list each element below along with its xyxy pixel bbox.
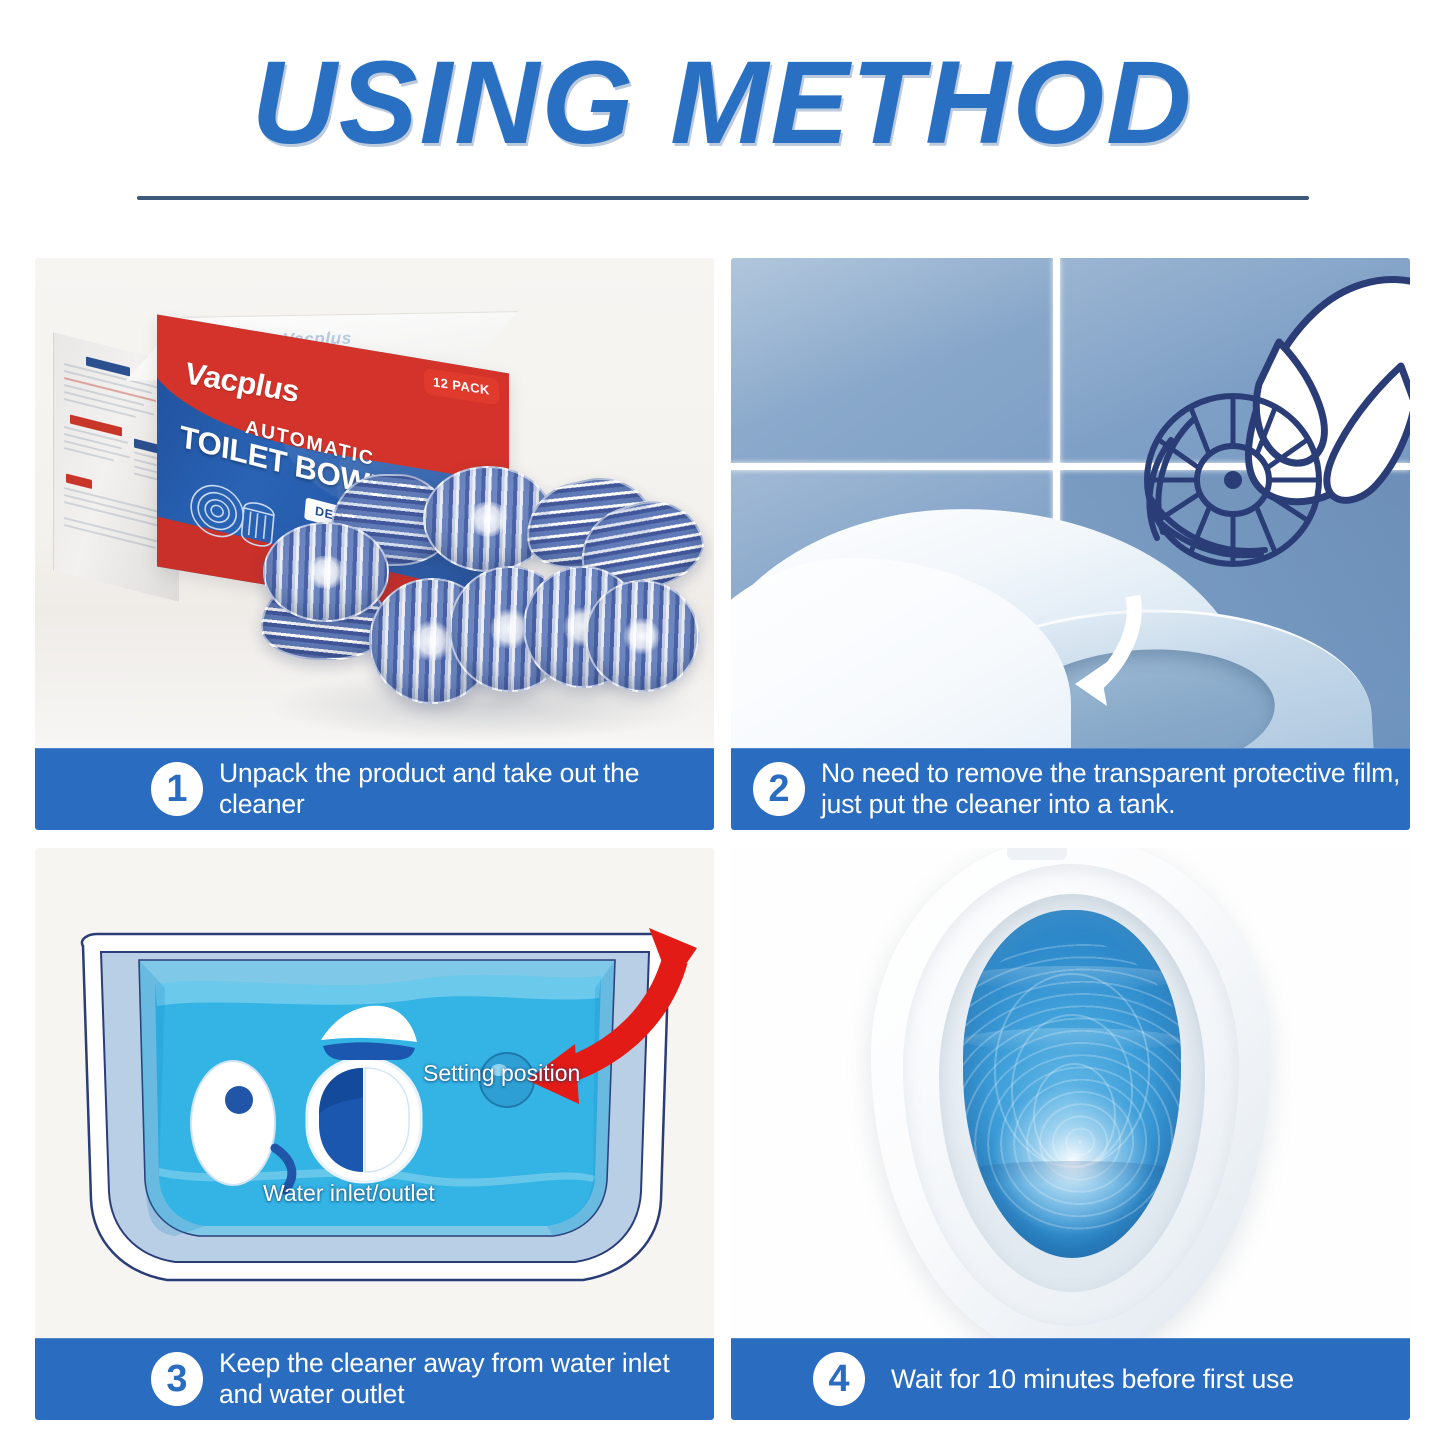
- flush-valve: [307, 1058, 421, 1182]
- step-1-image: Vacplus Vacplus 12 PACK AUTOMATIC TOILET…: [35, 258, 714, 748]
- header: USING METHOD: [0, 0, 1445, 230]
- water-inlet-outlet-label: Water inlet/outlet: [263, 1180, 435, 1207]
- step-4-text: Wait for 10 minutes before first use: [891, 1364, 1302, 1395]
- hand-holding-cleaner-icon: [1129, 268, 1410, 658]
- cleaner-tablet: [263, 522, 389, 622]
- step-card-2: 2 No need to remove the transparent prot…: [731, 258, 1410, 830]
- step-card-4: 4 Wait for 10 minutes before first use: [731, 848, 1410, 1420]
- step-number-badge: 2: [753, 762, 805, 816]
- step-4-caption: 4 Wait for 10 minutes before first use: [731, 1338, 1410, 1420]
- using-method-infographic: USING METHOD: [0, 0, 1445, 1445]
- seat-hinge: [1007, 848, 1067, 860]
- step-2-image: [731, 258, 1410, 748]
- step-3-caption: 3 Keep the cleaner away from water inlet…: [35, 1338, 714, 1420]
- step-card-1: Vacplus Vacplus 12 PACK AUTOMATIC TOILET…: [35, 258, 714, 830]
- step-3-text: Keep the cleaner away from water inlet a…: [219, 1348, 714, 1410]
- title-divider: [137, 196, 1309, 200]
- step-card-3: Setting position Water inlet/outlet 3 Ke…: [35, 848, 714, 1420]
- step-3-image: Setting position Water inlet/outlet: [35, 848, 714, 1338]
- step-number-badge: 4: [813, 1352, 865, 1406]
- step-1-caption: 1 Unpack the product and take out the cl…: [35, 748, 714, 830]
- cleaner-tablets-pile: [273, 470, 713, 748]
- toilet-bowl-top-view: [731, 848, 1410, 1338]
- page-title: USING METHOD: [0, 44, 1445, 162]
- cleaner-tablet: [585, 580, 699, 692]
- step-number-badge: 1: [151, 762, 203, 816]
- setting-position-label: Setting position: [423, 1060, 580, 1087]
- step-2-caption: 2 No need to remove the transparent prot…: [731, 748, 1410, 830]
- step-2-text: No need to remove the transparent protec…: [821, 758, 1410, 820]
- cleaner-tablet-line-art: [1147, 396, 1319, 564]
- toilet-tank-diagram: [35, 848, 714, 1338]
- step-number-badge: 3: [151, 1352, 203, 1406]
- step-1-text: Unpack the product and take out the clea…: [219, 758, 714, 820]
- step-4-image: [731, 848, 1410, 1338]
- steps-grid: Vacplus Vacplus 12 PACK AUTOMATIC TOILET…: [35, 258, 1410, 1420]
